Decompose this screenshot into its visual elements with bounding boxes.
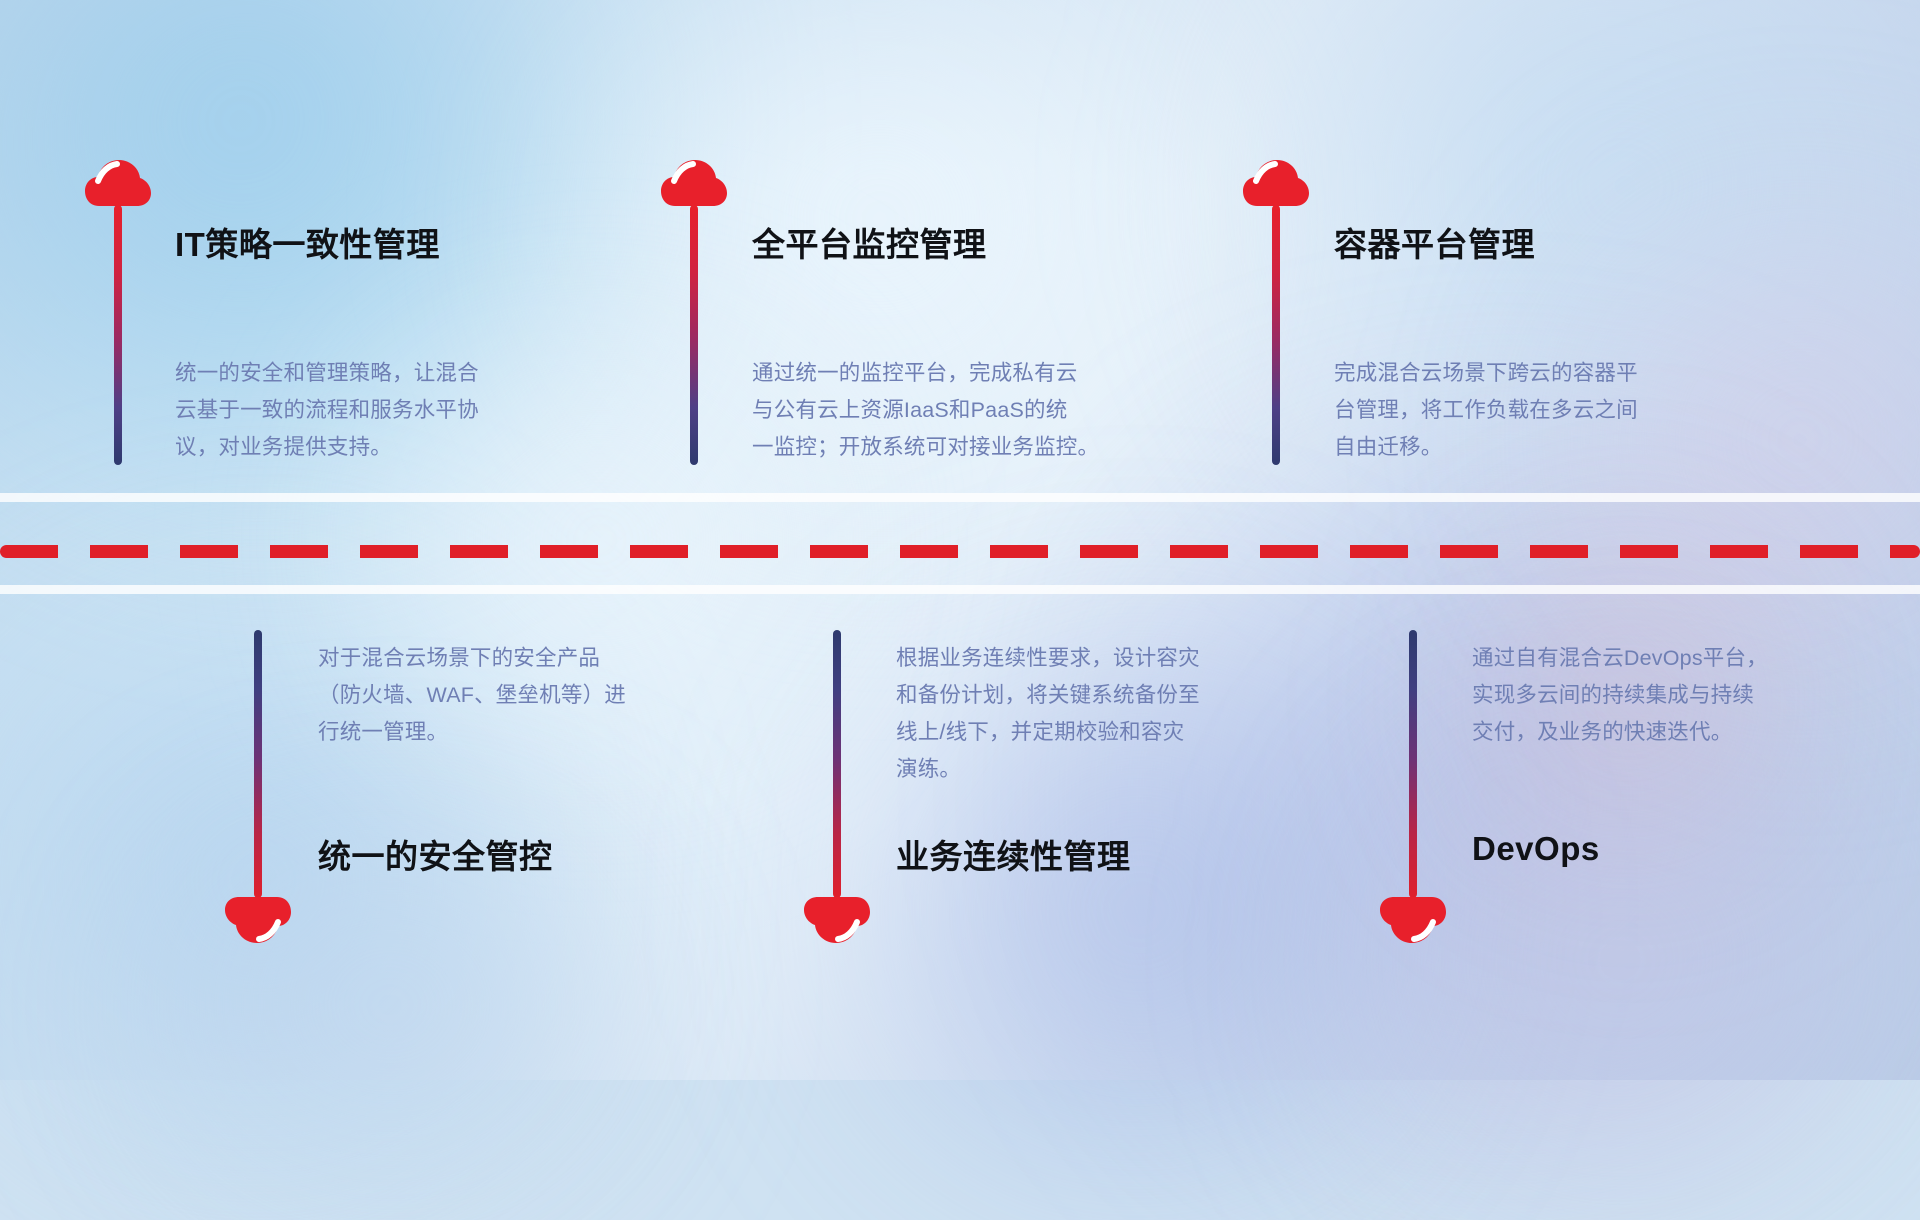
cloud-icon bbox=[85, 160, 151, 210]
item-title: 全平台监控管理 bbox=[752, 218, 987, 266]
item-description: 完成混合云场景下跨云的容器平 台管理，将工作负载在多云之间 自由迁移。 bbox=[1334, 355, 1784, 466]
divider-bar-bottom bbox=[0, 585, 1920, 594]
connector-stem bbox=[1409, 630, 1417, 898]
item-description: 统一的安全和管理策略，让混合 云基于一致的流程和服务水平协 议，对业务提供支持。 bbox=[175, 355, 615, 466]
item-title: 业务连续性管理 bbox=[896, 830, 1131, 878]
connector-stem bbox=[833, 630, 841, 898]
item-title: IT策略一致性管理 bbox=[175, 218, 440, 266]
connector-stem bbox=[114, 205, 122, 465]
cloud-icon bbox=[661, 160, 727, 210]
cloud-icon bbox=[225, 893, 291, 943]
connector-stem bbox=[690, 205, 698, 465]
cloud-icon bbox=[1243, 160, 1309, 210]
connector-stem bbox=[254, 630, 262, 898]
cloud-icon bbox=[804, 893, 870, 943]
item-title: DevOps bbox=[1472, 830, 1600, 868]
item-description: 通过自有混合云DevOps平台， 实现多云间的持续集成与持续 交付，及业务的快速… bbox=[1472, 640, 1902, 751]
item-description: 根据业务连续性要求，设计容灾 和备份计划，将关键系统备份至 线上/线下，并定期校… bbox=[896, 640, 1326, 788]
red-dashed-separator bbox=[0, 545, 1920, 558]
item-title: 统一的安全管控 bbox=[318, 830, 553, 878]
connector-stem bbox=[1272, 205, 1280, 465]
item-description: 对于混合云场景下的安全产品 （防火墙、WAF、堡垒机等）进 行统一管理。 bbox=[318, 640, 748, 751]
cloud-icon bbox=[1380, 893, 1446, 943]
item-title: 容器平台管理 bbox=[1334, 218, 1535, 266]
item-description: 通过统一的监控平台，完成私有云 与公有云上资源IaaS和PaaS的统 一监控；开… bbox=[752, 355, 1212, 466]
divider-bar-top bbox=[0, 493, 1920, 502]
